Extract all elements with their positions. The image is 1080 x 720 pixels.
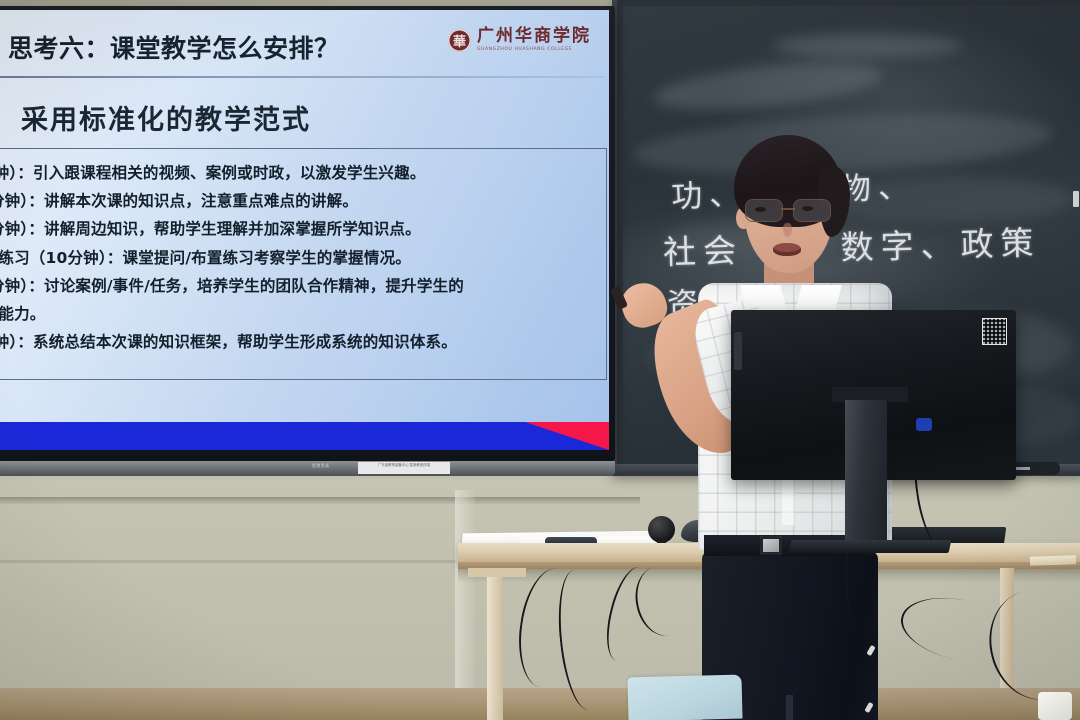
monitor-stand [845,400,887,550]
monitor-power-plug [916,418,932,431]
slide-bullet-7: 5分钟）：系统总结本次课的知识框架，帮助学生形成系统的知识体系。 [0,328,592,356]
university-logo: 華 广州华商学院 GUANGZHOU HUASHANG COLLEGE [448,28,591,52]
stylus-tray [1030,555,1076,566]
monitor-base [789,540,952,553]
belt-buckle [760,536,782,555]
slide-title: 采用标准化的教学范式 [21,98,311,137]
chalk-smudge [652,54,885,118]
display-chin-bar: 智慧黑板 广东省教育装备中心 智慧教室终端 [0,461,615,476]
slide-header-divider [0,76,605,78]
floor-white-object [1038,692,1072,720]
teacher-eye-left [755,207,766,212]
classroom-scene: 功、 、实物、 社会 息、数字、政策 资金 程丨思考六：课堂教学怎么安排？ 華 … [0,0,1080,720]
floor [0,688,1080,720]
slide-bullet-2: 30分钟）：讲解本次课的知识点，注意重点难点的讲解。 [0,187,592,215]
wall-column [455,490,475,720]
smart-display-unit[interactable]: 程丨思考六：课堂教学怎么安排？ 華 广州华商学院 GUANGZHOU HUASH… [0,6,615,476]
blue-folder [627,675,742,720]
wall-seam-lower [0,560,470,563]
glasses-lens-right [793,199,831,222]
qr-code-icon [982,318,1007,345]
teacher-mouth [773,243,801,256]
slide-header-text: 程丨思考六：课堂教学怎么安排？ [0,29,340,65]
teacher-nose [783,223,792,237]
slide-footer-bar [0,422,609,450]
board-clip [1073,191,1079,207]
wall-seam-upper [0,497,640,504]
trouser-seam [786,695,793,720]
monitor-side-tab [734,332,742,370]
chalk-smudge [773,34,963,58]
desk-leg-left [487,568,503,720]
presentation-slide[interactable]: 程丨思考六：课堂教学怎么安排？ 華 广州华商学院 GUANGZHOU HUASH… [0,10,609,450]
slide-content-box: 5分钟）：引入跟课程相关的视频、案例或时政，以激发学生兴趣。 30分钟）：讲解本… [0,148,607,380]
slide-bullet-5: 30分钟）：讨论案例/事件/任务，培养学生的团队合作精神，提升学生的 [0,272,592,300]
slide-bullet-3: 10分钟）：讲解周边知识，帮助学生理解并加深掌握所学知识点。 [0,215,592,243]
display-model-label: 广东省教育装备中心 智慧教室终端 [358,462,450,474]
logo-name-en: GUANGZHOU HUASHANG COLLEGE [477,47,591,52]
slide-bullet-4: 课堂练习（10分钟）：课堂提问/布置练习考察学生的掌握情况。 [0,244,592,272]
slide-bullet-1: 5分钟）：引入跟课程相关的视频、案例或时政，以激发学生兴趣。 [0,159,592,187]
teacher-eye-right [802,206,813,211]
display-brand-label: 智慧黑板 [312,463,330,469]
slide-bullet-6: 思辨能力。 [0,300,592,328]
desk-brace [468,568,526,577]
logo-emblem-icon: 華 [448,29,471,52]
logo-name-cn: 广州华商学院 [477,28,591,45]
